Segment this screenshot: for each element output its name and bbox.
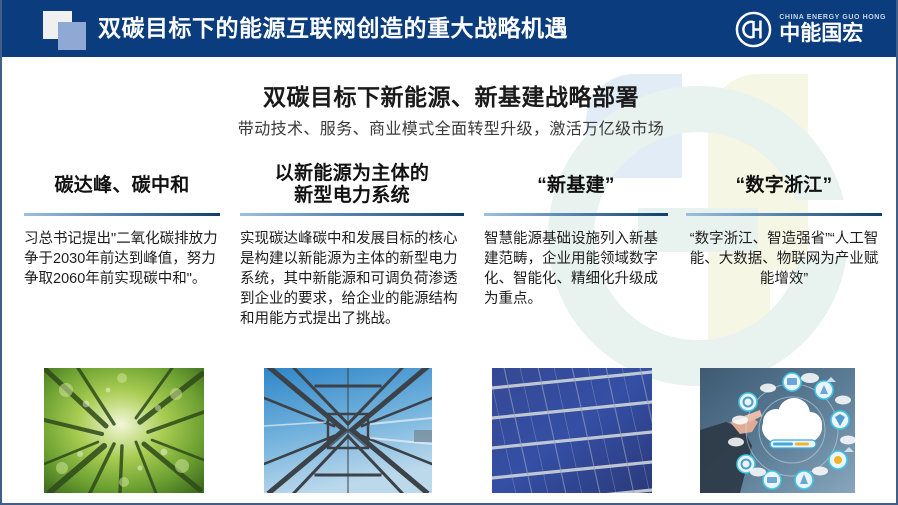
- column-divider: [686, 213, 882, 216]
- column-divider: [24, 213, 220, 216]
- content-columns: 碳达峰、碳中和 习总书记提出"二氧化碳排放力争于2030年前达到峰值，努力争取2…: [2, 160, 898, 505]
- column-divider: [240, 213, 464, 216]
- page-title: 双碳目标下新能源、新基建战略部署: [2, 78, 898, 112]
- column-carbon-peak: 碳达峰、碳中和 习总书记提出"二氧化碳排放力争于2030年前达到峰值，努力争取2…: [24, 160, 220, 505]
- header-title: 双碳目标下的能源互联网创造的重大战略机遇: [98, 12, 568, 44]
- column-heading: “新基建”: [484, 160, 668, 210]
- column-new-infrastructure: “新基建” 智慧能源基础设施列入新基建范畴，企业用能领域数字化、智能化、精细化升…: [484, 160, 668, 505]
- bottom-spacer: [2, 495, 898, 503]
- header-square-front-icon: [58, 22, 86, 50]
- logo-english-name: CHINA ENERGY GUO HONG: [779, 13, 886, 22]
- column-body-text: 智慧能源基础设施列入新基建范畴，企业用能领域数字化、智能化、精细化升级成为重点。: [484, 229, 668, 309]
- column-digital-zhejiang: “数字浙江” “数字浙江、智造强省”“人工智能、大数据、物联网为产业赋能增效”: [686, 160, 882, 505]
- column-divider: [484, 213, 668, 216]
- slide-canvas: 双碳目标下的能源互联网创造的重大战略机遇 CHINA ENERGY GUO HO…: [0, 0, 898, 505]
- page-subtitle: 带动技术、服务、商业模式全面转型升级，激活万亿级市场: [2, 115, 898, 139]
- column-body-text: 习总书记提出"二氧化碳排放力争于2030年前达到峰值，努力争取2060年前实现碳…: [24, 229, 220, 289]
- column-heading: 以新能源为主体的新型电力系统: [240, 160, 464, 210]
- column-body-text: 实现碳达峰碳中和发展目标的核心是构建以新能源为主体的新型电力系统，其中新能源和可…: [240, 229, 464, 329]
- header-bar: 双碳目标下的能源互联网创造的重大战略机遇 CHINA ENERGY GUO HO…: [2, 0, 898, 57]
- column-heading: “数字浙江”: [686, 160, 882, 210]
- logo-chinese-name: 中能国宏: [779, 22, 886, 46]
- column-new-power-system: 以新能源为主体的新型电力系统 实现碳达峰碳中和发展目标的核心是构建以新能源为主体…: [240, 160, 464, 505]
- column-body-text: “数字浙江、智造强省”“人工智能、大数据、物联网为产业赋能增效”: [686, 229, 882, 289]
- company-logo: CHINA ENERGY GUO HONG 中能国宏: [735, 9, 886, 49]
- column-heading: 碳达峰、碳中和: [24, 160, 220, 210]
- logo-text: CHINA ENERGY GUO HONG 中能国宏: [779, 13, 886, 46]
- guohong-logo-mark-icon: [735, 11, 772, 48]
